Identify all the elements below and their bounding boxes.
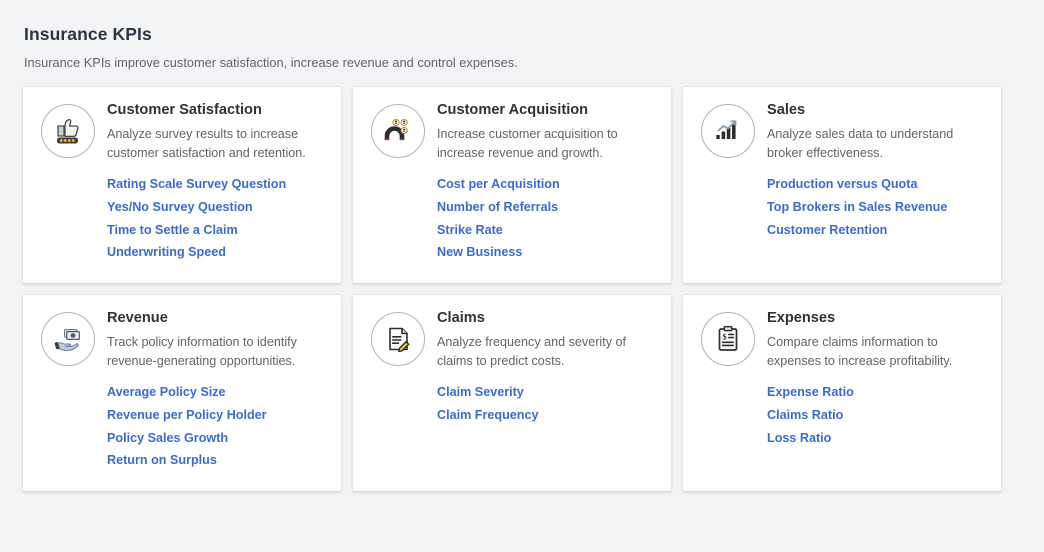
kpi-link-revenue-per-policy-holder[interactable]: Revenue per Policy Holder (107, 409, 327, 432)
kpi-link-strike-rate[interactable]: Strike Rate (437, 224, 657, 247)
kpi-link-list: Expense Ratio Claims Ratio Loss Ratio (767, 386, 987, 455)
kpi-link-loss-ratio[interactable]: Loss Ratio (767, 432, 987, 455)
card-body: Customer Acquisition Increase customer a… (433, 101, 657, 269)
kpi-card-grid: Customer Satisfaction Analyze survey res… (22, 86, 1022, 492)
kpi-link-rating-scale-survey-question[interactable]: Rating Scale Survey Question (107, 178, 327, 201)
kpi-card-customer-acquisition[interactable]: Customer Acquisition Increase customer a… (352, 86, 672, 284)
kpi-link-claim-frequency[interactable]: Claim Frequency (437, 409, 657, 432)
kpi-link-number-of-referrals[interactable]: Number of Referrals (437, 201, 657, 224)
kpi-link-return-on-surplus[interactable]: Return on Surplus (107, 454, 327, 477)
kpi-link-production-versus-quota[interactable]: Production versus Quota (767, 178, 987, 201)
clipboard-dollar-icon: $ (701, 312, 755, 366)
card-title: Revenue (107, 309, 327, 327)
kpi-link-list: Claim Severity Claim Frequency (437, 386, 657, 432)
card-body: Revenue Track policy information to iden… (103, 309, 327, 477)
bar-chart-growth-icon (701, 104, 755, 158)
card-description: Compare claims information to expenses t… (767, 333, 982, 372)
card-body: Customer Satisfaction Analyze survey res… (103, 101, 327, 269)
card-title: Claims (437, 309, 657, 327)
card-description: Analyze frequency and severity of claims… (437, 333, 652, 372)
kpi-link-new-business[interactable]: New Business (437, 246, 657, 269)
card-description: Increase customer acquisition to increas… (437, 125, 652, 164)
card-title: Customer Satisfaction (107, 101, 327, 119)
kpi-link-claim-severity[interactable]: Claim Severity (437, 386, 657, 409)
document-pencil-icon (371, 312, 425, 366)
kpi-card-sales[interactable]: Sales Analyze sales data to understand b… (682, 86, 1002, 284)
kpi-card-revenue[interactable]: Revenue Track policy information to iden… (22, 294, 342, 492)
kpi-link-top-brokers-in-sales-revenue[interactable]: Top Brokers in Sales Revenue (767, 201, 987, 224)
svg-text:$: $ (722, 332, 727, 342)
kpi-link-list: Cost per Acquisition Number of Referrals… (437, 178, 657, 270)
kpi-link-expense-ratio[interactable]: Expense Ratio (767, 386, 987, 409)
kpi-link-underwriting-speed[interactable]: Underwriting Speed (107, 246, 327, 269)
thumbs-up-rating-icon (41, 104, 95, 158)
kpi-link-cost-per-acquisition[interactable]: Cost per Acquisition (437, 178, 657, 201)
kpi-link-list: Average Policy Size Revenue per Policy H… (107, 386, 327, 478)
card-description: Track policy information to identify rev… (107, 333, 322, 372)
hand-holding-money-icon (41, 312, 95, 366)
kpi-link-customer-retention[interactable]: Customer Retention (767, 224, 987, 247)
kpi-link-list: Rating Scale Survey Question Yes/No Surv… (107, 178, 327, 270)
kpi-link-yes-no-survey-question[interactable]: Yes/No Survey Question (107, 201, 327, 224)
card-description: Analyze survey results to increase custo… (107, 125, 322, 164)
kpi-link-average-policy-size[interactable]: Average Policy Size (107, 386, 327, 409)
page-subtitle: Insurance KPIs improve customer satisfac… (24, 54, 1022, 71)
kpi-link-time-to-settle-a-claim[interactable]: Time to Settle a Claim (107, 224, 327, 247)
card-body: Expenses Compare claims information to e… (763, 309, 987, 454)
page-title: Insurance KPIs (24, 24, 1022, 45)
kpi-card-claims[interactable]: Claims Analyze frequency and severity of… (352, 294, 672, 492)
card-title: Expenses (767, 309, 987, 327)
card-description: Analyze sales data to understand broker … (767, 125, 982, 164)
kpi-link-policy-sales-growth[interactable]: Policy Sales Growth (107, 432, 327, 455)
kpi-card-expenses[interactable]: $ Expenses Compare claims information to… (682, 294, 1002, 492)
card-title: Customer Acquisition (437, 101, 657, 119)
card-body: Claims Analyze frequency and severity of… (433, 309, 657, 431)
kpi-link-list: Production versus Quota Top Brokers in S… (767, 178, 987, 247)
kpi-card-customer-satisfaction[interactable]: Customer Satisfaction Analyze survey res… (22, 86, 342, 284)
magnet-attract-customers-icon (371, 104, 425, 158)
card-body: Sales Analyze sales data to understand b… (763, 101, 987, 246)
card-title: Sales (767, 101, 987, 119)
kpi-link-claims-ratio[interactable]: Claims Ratio (767, 409, 987, 432)
kpi-page: Insurance KPIs Insurance KPIs improve cu… (0, 0, 1044, 492)
